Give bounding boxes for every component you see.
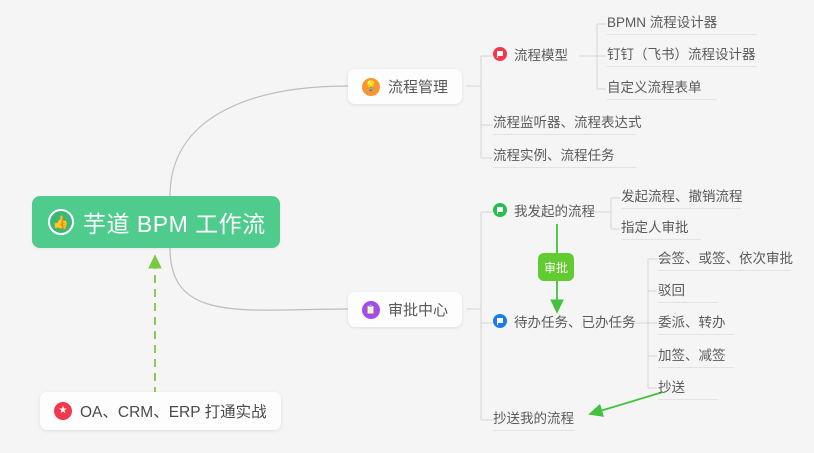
node-approval-center-label: 审批中心 bbox=[388, 299, 448, 320]
node-todo-done-tasks[interactable]: 待办任务、已办任务 bbox=[493, 311, 636, 334]
node-countersign-orsign-sequential[interactable]: 会签、或签、依次审批 bbox=[658, 247, 791, 271]
node-reject[interactable]: 驳回 bbox=[658, 279, 718, 303]
node-carbon-copy[interactable]: 抄送 bbox=[658, 376, 718, 400]
approve-badge-label: 审批 bbox=[544, 259, 568, 276]
node-delegate-transfer[interactable]: 委派、转办 bbox=[658, 311, 734, 335]
node-start-cancel-process[interactable]: 发起流程、撤销流程 bbox=[621, 185, 741, 209]
arrow-cc-to-ccmine bbox=[590, 392, 663, 414]
node-delegate-transfer-label: 委派、转办 bbox=[658, 311, 726, 331]
node-process-instance-task-label: 流程实例、流程任务 bbox=[493, 144, 615, 164]
node-add-remove-sign[interactable]: 加签、减签 bbox=[658, 344, 734, 368]
node-bpmn-designer[interactable]: BPMN 流程设计器 bbox=[607, 11, 757, 35]
node-todo-done-tasks-label: 待办任务、已办任务 bbox=[514, 311, 636, 331]
edge-root-to-process-management bbox=[170, 86, 348, 196]
flag-icon bbox=[493, 203, 507, 217]
node-start-cancel-process-label: 发起流程、撤销流程 bbox=[621, 185, 743, 205]
node-reject-label: 驳回 bbox=[658, 279, 685, 299]
node-dingtalk-feishu-designer-label: 钉钉（飞书）流程设计器 bbox=[607, 43, 756, 63]
mindmap-canvas: 芋道 BPM 工作流 流程管理 审批中心 流程模型 流程监听器、流程表达式 流程… bbox=[0, 0, 814, 453]
flag-icon bbox=[493, 314, 507, 328]
approve-badge[interactable]: 审批 bbox=[538, 253, 574, 281]
clipboard-icon bbox=[362, 301, 380, 319]
root-label: 芋道 BPM 工作流 bbox=[83, 205, 266, 239]
node-custom-process-form-label: 自定义流程表单 bbox=[607, 76, 702, 96]
node-add-remove-sign-label: 加签、减签 bbox=[658, 344, 726, 364]
node-integration-note[interactable]: OA、CRM、ERP 打通实战 bbox=[40, 392, 281, 430]
node-process-model-label: 流程模型 bbox=[514, 44, 568, 64]
edge-root-to-approval-center bbox=[170, 248, 348, 310]
flag-icon bbox=[493, 47, 507, 61]
lightbulb-icon bbox=[362, 78, 380, 96]
node-countersign-orsign-sequential-label: 会签、或签、依次审批 bbox=[658, 247, 793, 267]
node-assignee-approval[interactable]: 指定人审批 bbox=[621, 216, 701, 240]
node-process-listener-expression-label: 流程监听器、流程表达式 bbox=[493, 111, 642, 131]
root-node[interactable]: 芋道 BPM 工作流 bbox=[32, 196, 280, 248]
node-dingtalk-feishu-designer[interactable]: 钉钉（飞书）流程设计器 bbox=[607, 43, 757, 67]
node-cc-to-me-processes[interactable]: 抄送我的流程 bbox=[493, 407, 575, 431]
node-my-initiated-processes-label: 我发起的流程 bbox=[514, 200, 595, 220]
node-carbon-copy-label: 抄送 bbox=[658, 376, 685, 396]
node-my-initiated-processes[interactable]: 我发起的流程 bbox=[493, 200, 595, 223]
node-process-listener-expression[interactable]: 流程监听器、流程表达式 bbox=[493, 111, 636, 135]
node-custom-process-form[interactable]: 自定义流程表单 bbox=[607, 76, 717, 100]
node-integration-note-label: OA、CRM、ERP 打通实战 bbox=[80, 400, 267, 422]
node-process-instance-task[interactable]: 流程实例、流程任务 bbox=[493, 144, 636, 168]
node-assignee-approval-label: 指定人审批 bbox=[621, 216, 689, 236]
node-process-management[interactable]: 流程管理 bbox=[348, 69, 462, 104]
node-cc-to-me-processes-label: 抄送我的流程 bbox=[493, 407, 574, 427]
node-process-management-label: 流程管理 bbox=[388, 76, 448, 97]
node-approval-center[interactable]: 审批中心 bbox=[348, 292, 462, 327]
star-icon bbox=[54, 402, 72, 420]
node-process-model[interactable]: 流程模型 bbox=[493, 44, 568, 67]
thumbs-up-icon bbox=[48, 209, 74, 235]
node-bpmn-designer-label: BPMN 流程设计器 bbox=[607, 11, 717, 31]
